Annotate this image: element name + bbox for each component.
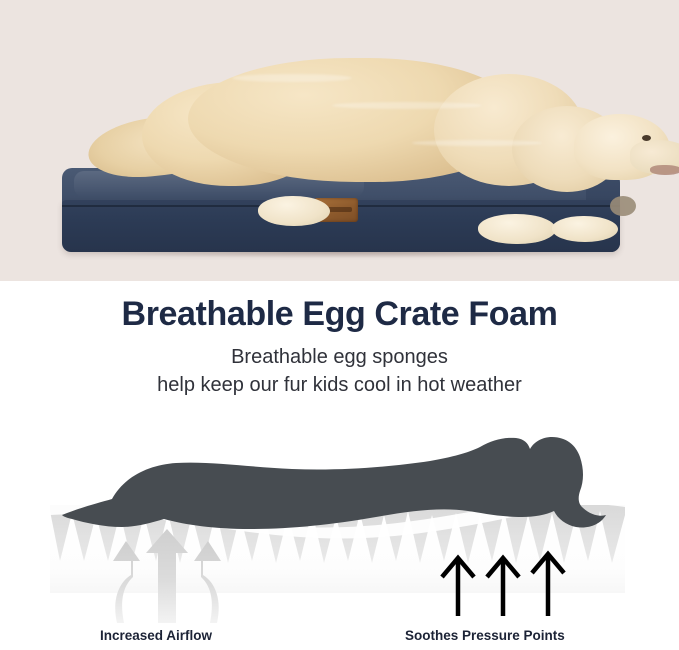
dog-mouth: [650, 165, 679, 175]
fur-highlight: [412, 140, 542, 146]
product-infographic: Breathable Egg Crate Foam Breathable egg…: [0, 0, 679, 650]
dog-photo-golden-retriever: [82, 44, 587, 204]
fur-highlight: [232, 74, 352, 82]
hero-scene: [0, 0, 679, 281]
caption-increased-airflow: Increased Airflow: [100, 628, 212, 643]
dog-silhouette: [62, 437, 606, 529]
foam-diagram: [0, 411, 679, 650]
dog-eye: [642, 135, 651, 141]
dog-rear-paw: [258, 196, 330, 226]
page-title: Breathable Egg Crate Foam: [0, 295, 679, 334]
headline-block: Breathable Egg Crate Foam Breathable egg…: [0, 281, 679, 411]
hero-product-photo: [0, 0, 679, 281]
page-subtitle: Breathable egg sponges help keep our fur…: [0, 343, 679, 399]
foam-diagram-svg: [0, 411, 679, 650]
subtitle-line-2: help keep our fur kids cool in hot weath…: [0, 371, 679, 399]
subtitle-line-1: Breathable egg sponges: [0, 343, 679, 371]
dog-front-paw-left: [478, 214, 556, 244]
caption-soothes-pressure-points: Soothes Pressure Points: [405, 628, 565, 643]
dog-paw-pad: [610, 196, 636, 216]
fur-highlight: [332, 102, 482, 109]
dog-front-paw-right: [552, 216, 618, 242]
